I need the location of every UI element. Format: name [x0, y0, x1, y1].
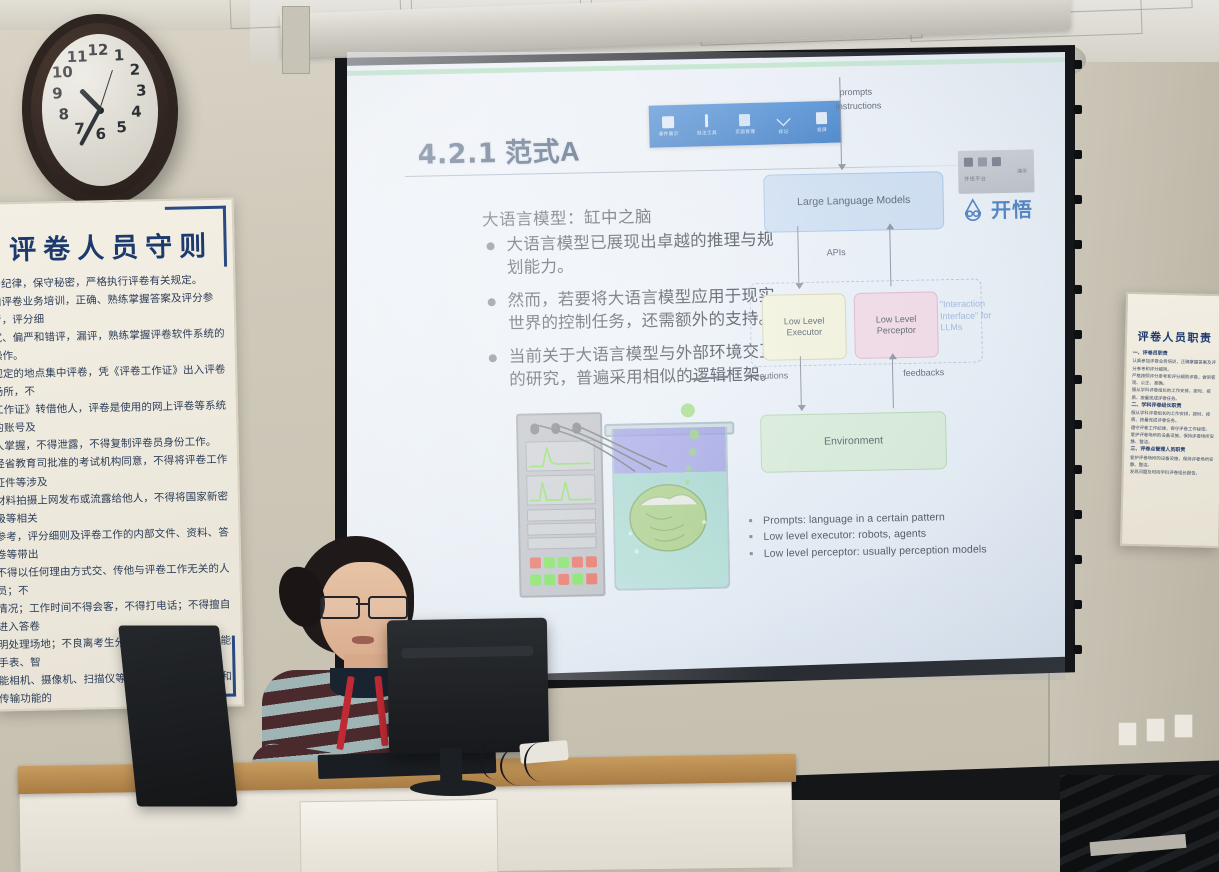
poster-left-line: 参考，评分细则及评卷工作的内部文件、资料、答卷等带出	[0, 523, 231, 564]
diagram-node-environment: Environment	[760, 411, 947, 473]
classroom-presentation-photo: 121234567891011 评卷人员守则 守纪律，保守秘密，严格执行评卷有关…	[0, 0, 1219, 872]
slide-title-text: 范式A	[505, 136, 581, 167]
diagram-label-instructions: instructions	[836, 100, 882, 113]
brain-in-vat-illustration	[516, 392, 730, 596]
screen-tension-tab	[1074, 510, 1082, 519]
diagram-group-label: "Interaction Interface" for LLMs	[940, 298, 999, 334]
slide-title-number: 4.2.1	[417, 138, 497, 171]
slide-bullet-2: 然而，若要将大语言模型应用于现实世界的控制任务，还需额外的支持。	[485, 284, 776, 337]
presenter-glasses	[320, 596, 412, 616]
wall-outlet-3[interactable]	[1174, 714, 1193, 738]
slide-bullet-3-struck: 逻辑	[693, 367, 727, 386]
toolbar-item-label: 课件展示	[658, 130, 678, 137]
llm-framework-diagram: prompts instructions Large Language Mode…	[739, 61, 1048, 507]
poster-left-line: 不得以任何理由方式交、传他与评卷工作无关的人员；不	[0, 559, 232, 600]
poster-right-line: 服从学科评卷组长的工作安排，按时、按质、按量完成评卷任务。	[1131, 409, 1215, 426]
diagram-label-feedbacks: feedbacks	[903, 367, 944, 380]
screen-tension-tab	[1074, 150, 1082, 159]
arrow-perceptor-to-llm	[889, 224, 892, 286]
screen-tension-tab	[1074, 195, 1082, 204]
toolbar-item-1[interactable]: 批注工具	[689, 114, 724, 137]
poster-right-body: 一、评卷员职责认真参加评卷业务培训，正确掌握答案及评分参考和评分细则。严格按照评…	[1124, 349, 1219, 478]
vat-wires-and-brain	[516, 392, 730, 596]
poster-grading-duties: 评卷人员职责 一、评卷员职责认真参加评卷业务培训，正确掌握答案及评分参考和评分细…	[1120, 292, 1219, 548]
laptop[interactable]	[118, 625, 238, 806]
monitor-back-ridge	[401, 646, 533, 658]
slide-bullet-list: 大语言模型已展现出卓越的推理与规划能力。 然而，若要将大语言模型应用于现实世界的…	[484, 229, 777, 402]
poster-left-line: 工作证》转借他人，评卷是使用的网上评卷等系统的账号及	[0, 397, 229, 438]
screen-tension-tab	[1074, 60, 1082, 69]
glasses-right-lens	[368, 596, 408, 619]
screen-tension-tab	[1074, 105, 1082, 114]
poster-left-line: 加评卷业务培训，正确、熟练掌握答案及评分参考，评分细	[0, 289, 226, 330]
poster-corner-decoration-top	[165, 206, 227, 268]
poster-left-line: 材料拍摄上网发布或流露给他人，不得将国家新密级等相关	[0, 487, 230, 528]
diagram-node-executor: Low Level Executor	[762, 293, 847, 361]
glasses-bridge	[356, 603, 368, 605]
diagram-label-apis: APIs	[827, 247, 846, 259]
screen-tension-tab	[1074, 465, 1082, 474]
screen-tension-tabs	[1074, 60, 1082, 680]
slide-bullet-3: 当前关于大语言模型与外部环境交互的研究，普遍采用相似的逻辑框架。	[487, 340, 778, 393]
poster-left-line: 经省教育司批准的考试机构同意，不得将评卷工作证件等涉及	[0, 451, 230, 492]
screen-mount-bracket	[282, 6, 310, 74]
podium-drawer[interactable]	[300, 799, 499, 872]
presenter-mouth	[352, 636, 374, 644]
screen-tension-tab	[1074, 375, 1082, 384]
screen-tension-tab	[1074, 285, 1082, 294]
pen-icon	[705, 114, 708, 127]
grid-icon	[662, 116, 674, 128]
slide-title: 4.2.1 范式A	[417, 129, 580, 171]
slide-lead-line: 大语言模型：缸中之脑	[482, 203, 652, 230]
toolbar-item-label: 批注工具	[697, 130, 717, 137]
diagram-label-executions: executions	[745, 370, 788, 383]
diagram-label-prompts: prompts	[839, 87, 872, 99]
screen-tension-tab	[1074, 330, 1082, 339]
screen-tension-tab	[1074, 645, 1082, 654]
glasses-left-lens	[320, 596, 360, 619]
slide-bullet-1: 大语言模型已展现出卓越的推理与规划能力。	[484, 229, 775, 282]
diagram-node-llm: Large Language Models	[763, 171, 944, 233]
wall-outlet-1[interactable]	[1118, 722, 1137, 746]
stacked-black-chairs	[1060, 775, 1219, 872]
poster-right-title: 评卷人员职责	[1127, 328, 1219, 346]
poster-left-line: 规定的地点集中评卷，凭《评卷工作证》出入评卷场所，不	[0, 361, 228, 402]
monitor[interactable]	[387, 618, 549, 755]
poster-right-line: 发现问题及时向学科评卷组长报告。	[1130, 468, 1214, 477]
poster-left-line: 宽、偏严和错评，漏评，熟练掌握评卷软件系统的操作。	[0, 325, 227, 366]
screen-tension-tab	[1074, 555, 1082, 564]
screen-tension-tab	[1074, 420, 1082, 429]
screen-tension-tab	[1074, 600, 1082, 609]
arrow-llm-to-executor	[797, 226, 800, 288]
screen-tension-tab	[1074, 240, 1082, 249]
cable-bundle	[470, 740, 580, 796]
diagram-node-perceptor: Low Level Perceptor	[854, 291, 939, 359]
slide-subnotes: Prompts: language in a certain patternLo…	[748, 507, 1059, 562]
wall-outlet-2[interactable]	[1146, 718, 1165, 742]
toolbar-item-0[interactable]: 课件展示	[651, 115, 686, 137]
